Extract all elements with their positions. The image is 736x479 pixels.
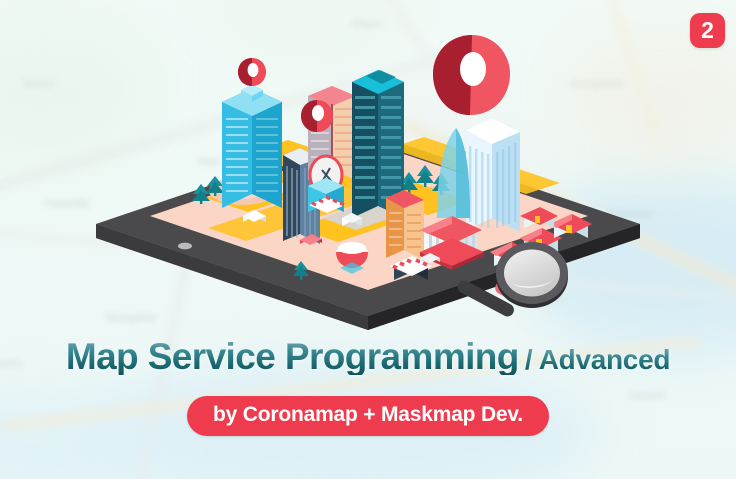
banner-canvas: Seoul Han River Gangnam Jongno Yeouido M…: [0, 0, 736, 479]
tower-lightblue: [466, 118, 520, 232]
title-main-text: Map Service Programming: [66, 338, 519, 375]
title-sub-text: / Advanced: [525, 346, 670, 374]
map-pin-large: [433, 35, 510, 115]
tower-orange: [386, 190, 424, 260]
map-pin-medium: [301, 100, 333, 132]
tablet-home-button[interactable]: [178, 243, 192, 250]
magnifier-lens: [504, 250, 560, 297]
tree: [206, 176, 224, 196]
kiosk: [308, 156, 345, 213]
isometric-city-illustration: [0, 0, 736, 340]
page-title: Map Service Programming/ Advanced: [0, 338, 736, 375]
author-pill: by Coronamap + Maskmap Dev.: [187, 396, 549, 436]
map-pin-small: [238, 58, 266, 86]
tower-cyan: [222, 84, 282, 208]
tower-navy-stripes: [286, 166, 298, 238]
tower-curved: [437, 128, 470, 218]
subtitle-pill-container: by Coronamap + Maskmap Dev.: [0, 396, 736, 436]
